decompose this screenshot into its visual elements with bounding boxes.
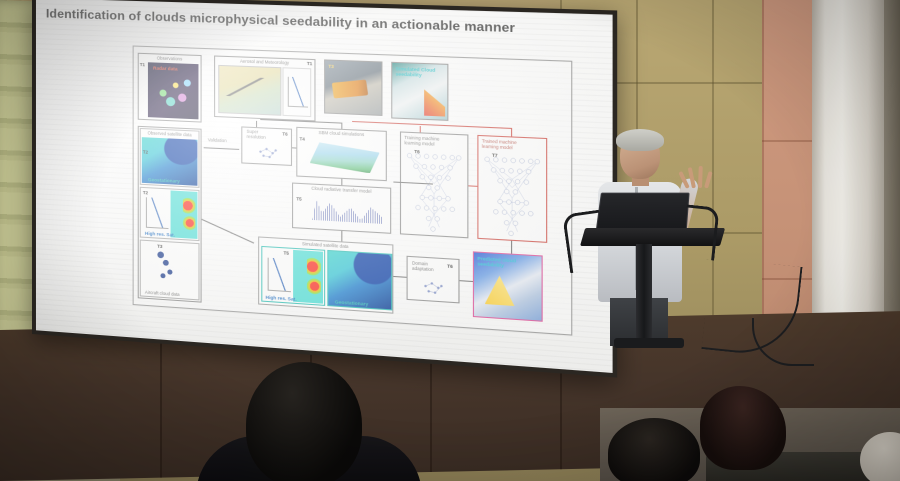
group-simulated-satellite-data: Simulated satellite data High res. Sat. … bbox=[258, 236, 393, 313]
tag-t2-highres: T2 bbox=[143, 190, 148, 195]
node-observations-overlay: Radar data bbox=[153, 66, 177, 72]
tag-t3-aircraft-photo: T3 bbox=[328, 64, 334, 69]
projection-screen-frame: Identification of clouds microphysical s… bbox=[32, 0, 617, 378]
node-sbm-cloud-simulations: SBM cloud simulations T4 bbox=[296, 127, 387, 181]
simulated-profile-thumbnail bbox=[263, 248, 293, 302]
arrow-hires-to-simsat bbox=[201, 219, 254, 244]
arrow-seed-to-trained bbox=[420, 124, 511, 129]
arrow-planephoto-to-seed bbox=[352, 121, 420, 125]
speaker-hair bbox=[616, 129, 664, 151]
arrow-crtm-to-simsat bbox=[341, 231, 342, 241]
node-aircraft-cloud-data: Aircraft cloud data T3 bbox=[140, 240, 200, 301]
simulated-highres-thumbnail bbox=[293, 250, 323, 304]
tag-t2-geostationary: T2 bbox=[143, 149, 148, 154]
lectern-base bbox=[614, 338, 684, 348]
node-aircraft-cloud-data-label: Aircraft cloud data bbox=[145, 290, 180, 297]
arrow-trained-to-predicted bbox=[511, 241, 512, 254]
arrow-seed-to-training bbox=[420, 126, 421, 132]
arrow-trained-down bbox=[511, 128, 512, 137]
tag-t1-observations: T1 bbox=[140, 62, 145, 67]
meteorology-profile-thumbnail bbox=[284, 68, 311, 116]
audience-member-1-head bbox=[246, 362, 362, 481]
tag-t5-crtm: T5 bbox=[296, 196, 301, 201]
microphone-left bbox=[562, 210, 607, 274]
node-observed-highres-sat-overlay: High res. Sat. bbox=[145, 231, 175, 238]
tag-t1-aerosol: T1 bbox=[307, 61, 312, 66]
node-simulated-highres-sat: High res. Sat. T5 bbox=[261, 246, 325, 306]
tag-t3-aircraft-cloud: T3 bbox=[157, 244, 162, 249]
lectern bbox=[580, 228, 720, 348]
arrow-observations-to-sbm bbox=[256, 121, 257, 127]
tag-t5-simulated-sat: T5 bbox=[284, 250, 289, 256]
audience-member-2-head bbox=[608, 418, 700, 481]
arrow-simsat-to-domain bbox=[393, 276, 406, 278]
slide-title: Identification of clouds microphysical s… bbox=[46, 6, 603, 38]
arrow-obs-to-validation bbox=[204, 147, 240, 150]
tag-t4-sbm: T4 bbox=[299, 136, 304, 141]
arrow-domain-to-predicted bbox=[460, 280, 473, 282]
node-cloud-radiative-transfer-model: Cloud radiative transfer model T5 bbox=[292, 183, 391, 234]
presentation-photo-scene: Identification of clouds microphysical s… bbox=[0, 0, 900, 481]
node-training-ml-model: Training machine learning model T6 bbox=[400, 131, 468, 238]
arrow-sbm-to-crtm bbox=[341, 179, 342, 185]
node-aerosol-meteorology: Aerosol and Meteorology T1 bbox=[214, 55, 315, 121]
arrow-training-to-trained bbox=[468, 185, 477, 187]
aerosol-map-thumbnail bbox=[219, 66, 280, 115]
arrow-sbm-in bbox=[341, 123, 342, 129]
projection-screen: Identification of clouds microphysical s… bbox=[36, 0, 613, 373]
node-super-resolution: Super resolution T6 bbox=[241, 126, 292, 166]
node-simulated-cloud-seedability-overlay: Simulated Cloud seedability bbox=[396, 66, 447, 78]
super-resolution-dots-graphic bbox=[242, 127, 291, 164]
edge-label-validation: Validation bbox=[208, 137, 227, 143]
trained-neural-network-graphic bbox=[478, 136, 546, 242]
radiative-transfer-spectrum-thumbnail bbox=[306, 193, 387, 230]
lectern-stem bbox=[636, 244, 652, 344]
speaker-hand bbox=[686, 164, 708, 188]
microphone-right bbox=[681, 204, 719, 260]
node-observations: Observations Radar data T1 bbox=[138, 53, 202, 123]
aircraft-scatter-thumbnail bbox=[142, 242, 198, 291]
node-aircraft-photo: T3 bbox=[324, 59, 382, 116]
arrow-superres-to-sbm bbox=[292, 147, 296, 148]
node-simulated-geostationary: Geostationary bbox=[327, 250, 392, 311]
node-predicted-cloud-seedability: Predicted cloud seedability bbox=[473, 251, 543, 321]
node-domain-adaptation: Domain adaptation T6 bbox=[407, 256, 460, 304]
node-trained-ml-model: Trained machine learning model T7 bbox=[477, 135, 547, 243]
node-observed-highres-sat: High res. Sat. T2 bbox=[140, 187, 200, 241]
node-observations-label: Observations bbox=[139, 55, 201, 62]
node-simulated-highres-sat-overlay: High res. Sat. bbox=[266, 295, 297, 302]
sbm-cloud-3d-thumbnail bbox=[306, 137, 384, 178]
slide-diagram: Observations Radar data T1 Aerosol and M… bbox=[133, 45, 573, 335]
training-neural-network-graphic bbox=[401, 133, 467, 238]
node-observed-satellite-data: Observed satellite data Geostationary T2 bbox=[140, 128, 200, 188]
domain-adaptation-dots-graphic bbox=[408, 257, 459, 302]
node-simulated-cloud-seedability: Simulated Cloud seedability bbox=[391, 62, 448, 121]
